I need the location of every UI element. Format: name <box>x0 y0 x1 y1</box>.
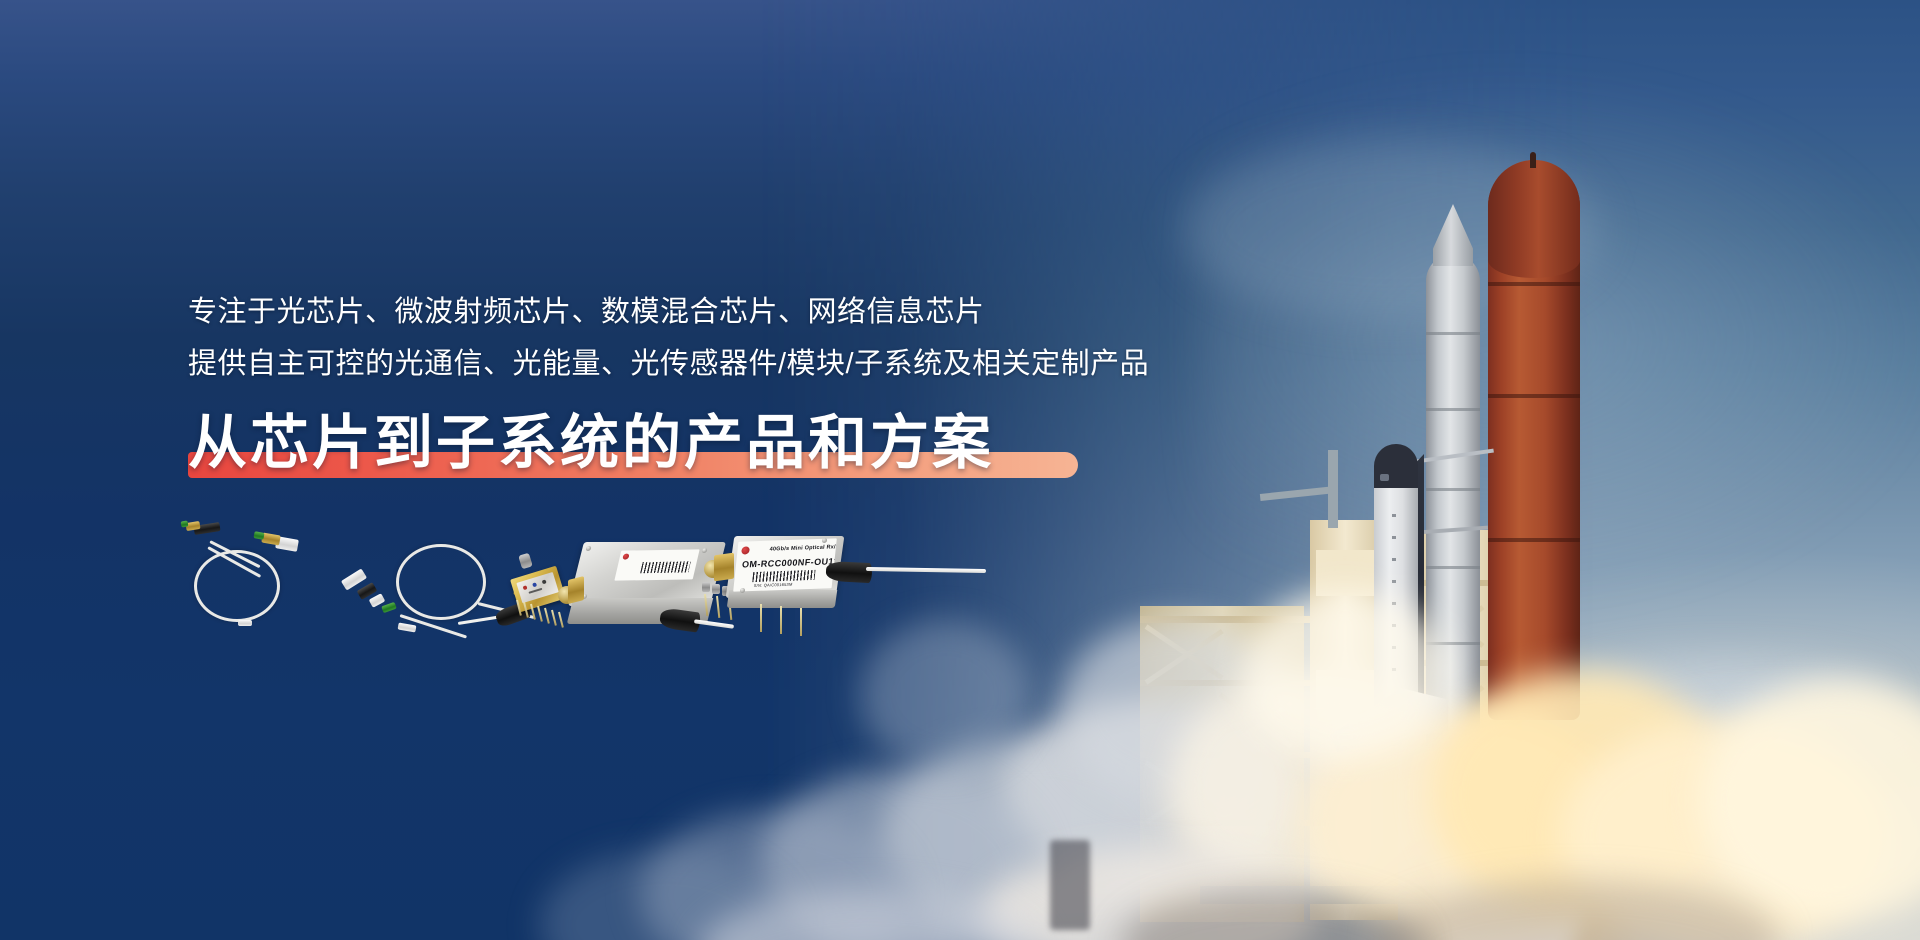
thermistor-post <box>518 553 533 570</box>
smoke-puff <box>1240 590 1450 760</box>
hero-banner: 专注于光芯片、微波射频芯片、数模混合芯片、网络信息芯片 提供自主可控的光通信、光… <box>0 0 1920 940</box>
connector-flange <box>568 576 584 604</box>
headline-group: 从芯片到子系统的产品和方案 <box>188 404 994 482</box>
page-title: 从芯片到子系统的产品和方案 <box>188 404 994 482</box>
connector-tip <box>381 602 397 613</box>
fiber-sleeve <box>238 620 252 626</box>
connector-tip <box>253 531 264 540</box>
barcode <box>640 561 691 573</box>
fiber-pigtail-out <box>866 567 986 573</box>
fiber-sleeve <box>398 622 417 632</box>
package-pin <box>537 606 543 622</box>
module-pin <box>780 606 782 634</box>
tank-tip <box>1530 152 1536 168</box>
orbiter-nose <box>1374 444 1418 488</box>
module-pin <box>760 604 762 632</box>
optical-fiber-pigtail <box>180 518 330 628</box>
booster-segment-line <box>1426 408 1480 411</box>
module-part-number: OM-RCC000NF-OU11 <box>741 556 836 569</box>
package-pin <box>544 608 550 624</box>
tagline-line-1: 专注于光芯片、微波射频芯片、数模混合芯片、网络信息芯片 <box>188 286 1188 338</box>
connector-flange <box>714 553 734 582</box>
banner-copy: 专注于光芯片、微波射频芯片、数模混合芯片、网络信息芯片 提供自主可控的光通信、光… <box>188 286 1188 482</box>
tank-band <box>1488 538 1580 542</box>
connector-tip <box>181 520 189 527</box>
tagline-line-2: 提供自主可控的光通信、光能量、光传感器件/模块/子系统及相关定制产品 <box>188 338 1188 390</box>
optical-receiver-module: 40Gb/s Mini Optical Rx/mA OM-RCC000NF-OU… <box>700 530 990 660</box>
module-pin <box>800 608 802 636</box>
brand-logo-icon <box>741 546 750 554</box>
fiber-coil <box>194 550 280 622</box>
orbiter-window <box>1380 474 1389 481</box>
barcode <box>752 570 815 582</box>
module-serial-text: S/N: QA/C001653M <box>754 582 793 588</box>
tank-band <box>1488 282 1580 286</box>
brand-logo-icon <box>622 554 629 560</box>
product-showcase: 40Gb/s Mini Optical Rx/mA OM-RCC000NF-OU… <box>180 518 1240 678</box>
module-label <box>614 549 699 580</box>
booster-segment-line <box>1426 332 1480 335</box>
module-sublabel-text: 40Gb/s Mini Optical Rx/mA <box>769 544 837 553</box>
light-pole <box>1050 840 1090 930</box>
tank-band <box>1488 394 1580 398</box>
module-label: 40Gb/s Mini Optical Rx/mA OM-RCC000NF-OU… <box>733 538 837 591</box>
